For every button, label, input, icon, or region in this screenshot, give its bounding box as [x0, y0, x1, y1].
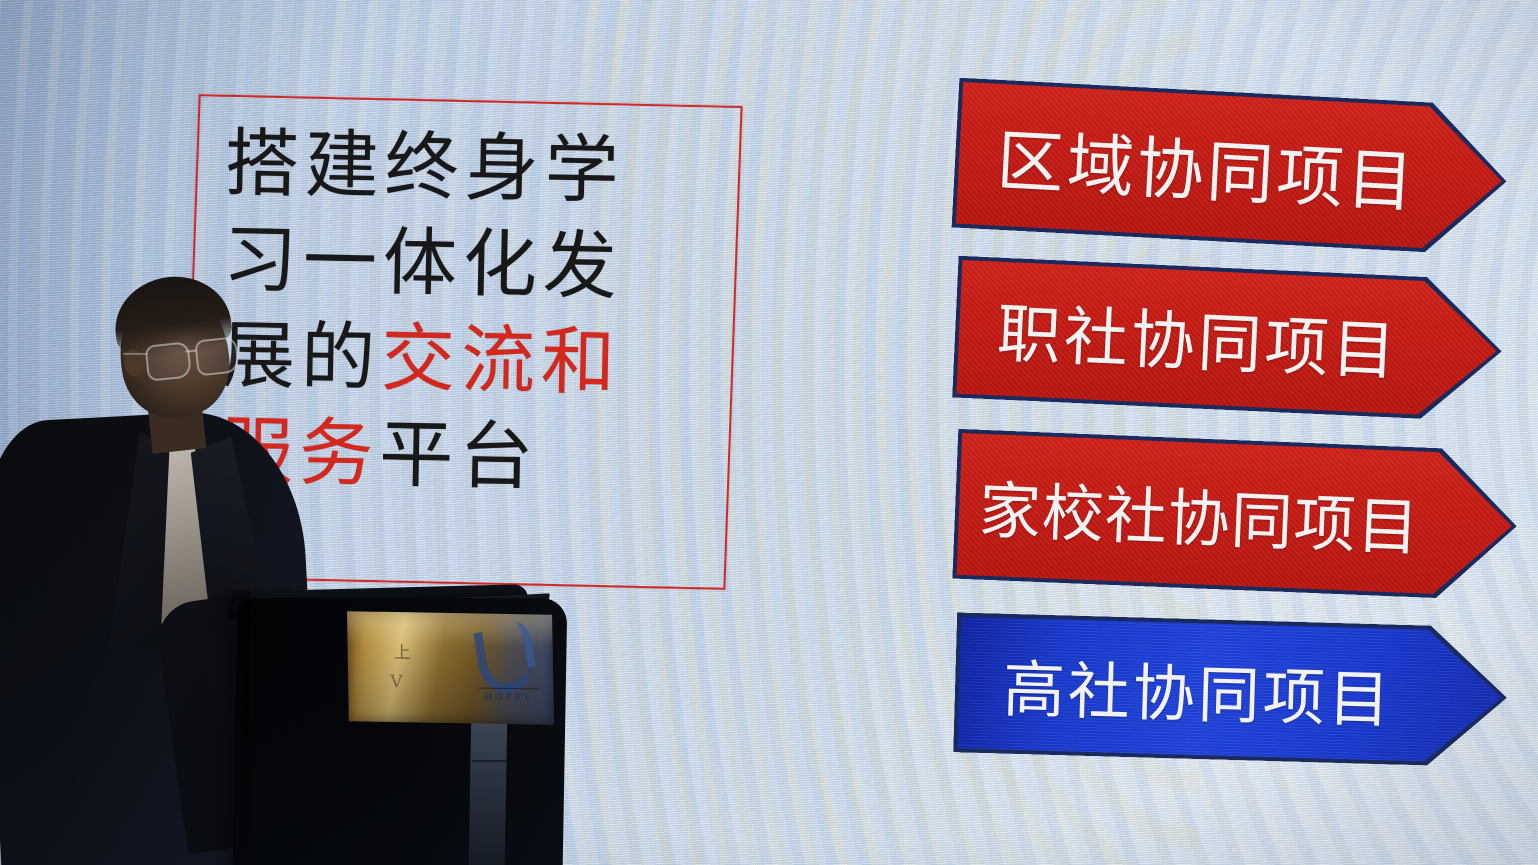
presentation-photo: 搭建终身学 习一体化发 展的交流和 服务平台 区域协同项目 职社协同项目 家校社… [0, 0, 1538, 865]
photo-vignette [0, 0, 1538, 865]
